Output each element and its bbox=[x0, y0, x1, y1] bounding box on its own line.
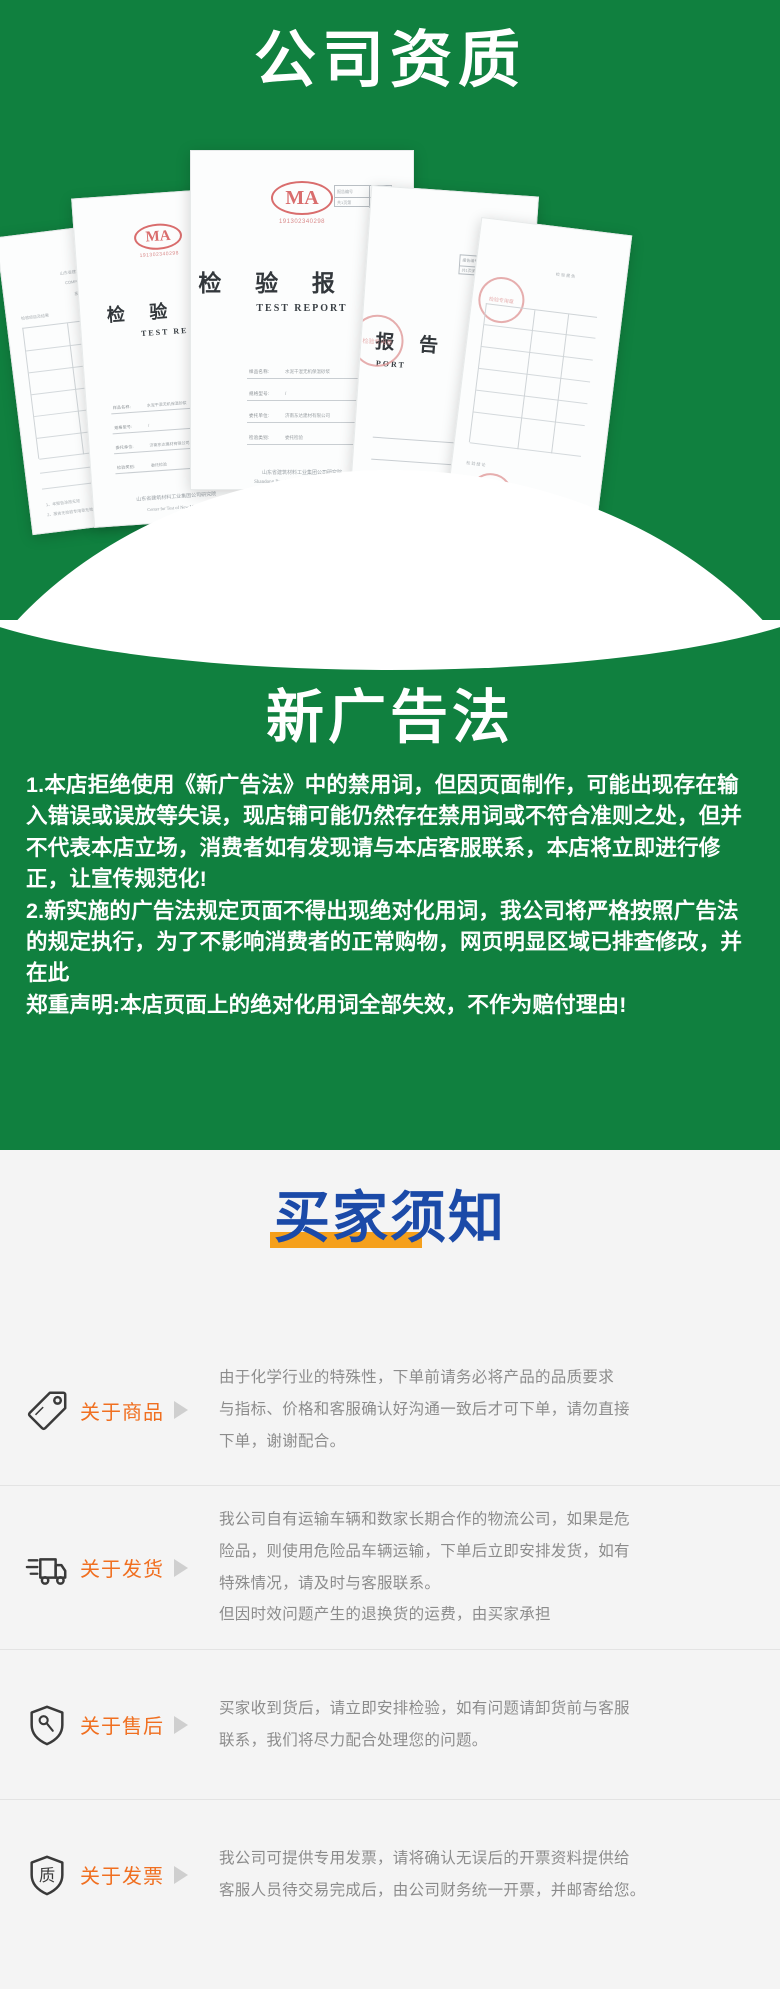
title-text-highlight: 买家 bbox=[274, 1186, 390, 1249]
ad-law-paragraph-1: 1.本店拒绝使用《新广告法》中的禁用词，但因页面制作，可能出现存在输入错误或误放… bbox=[26, 770, 756, 896]
notice-text-line: 我公司自有运输车辆和数家长期合作的物流公司，如果是危 bbox=[219, 1504, 762, 1536]
notice-text-line: 险品，则使用危险品车辆运输，下单后立即安排发货，如有 bbox=[219, 1536, 762, 1568]
notice-row-product[interactable]: 关于商品 由于化学行业的特殊性，下单前请务必将产品的品质要求 与指标、价格和客服… bbox=[0, 1335, 780, 1485]
notice-row-shipping[interactable]: 关于发货 我公司自有运输车辆和数家长期合作的物流公司，如果是危 险品，则使用危险… bbox=[0, 1485, 780, 1649]
notice-text-line: 客服人员待交易完成后，由公司财务统一开票，并邮寄给您。 bbox=[219, 1875, 762, 1907]
price-tag-icon bbox=[24, 1387, 70, 1433]
shield-quality-icon: 质 bbox=[24, 1852, 70, 1898]
buyer-notice-title-wrap: 买家须知 bbox=[0, 1190, 780, 1300]
notice-row-shipping-text: 我公司自有运输车辆和数家长期合作的物流公司，如果是危 险品，则使用危险品车辆运输… bbox=[219, 1504, 762, 1631]
chevron-right-icon bbox=[174, 1716, 188, 1734]
notice-row-list: 关于商品 由于化学行业的特殊性，下单前请务必将产品的品质要求 与指标、价格和客服… bbox=[0, 1335, 780, 1949]
ad-law-paragraph-2: 2.新实施的广告法规定页面不得出现绝对化用词，我公司将严格按照广告法的规定执行，… bbox=[26, 896, 756, 990]
notice-row-shipping-left: 关于发货 bbox=[24, 1545, 219, 1591]
chevron-right-icon bbox=[174, 1559, 188, 1577]
notice-row-product-left: 关于商品 bbox=[24, 1387, 219, 1433]
notice-row-product-text: 由于化学行业的特殊性，下单前请务必将产品的品质要求 与指标、价格和客服确认好沟通… bbox=[219, 1362, 762, 1457]
chevron-right-icon bbox=[174, 1866, 188, 1884]
company-qualification-section: 公司资质 山东省建筑材料 COMPANY 报告 检验项目及结果 1、本报告涂改无… bbox=[0, 0, 780, 620]
chevron-right-icon bbox=[174, 1401, 188, 1419]
buyer-notice-section: 买家须知 关于商品 由于化学行业的特殊性，下单前请务必将产品的品质要求 与指标、… bbox=[0, 1150, 780, 1989]
shield-wrench-icon bbox=[24, 1702, 70, 1748]
notice-row-invoice-left: 质 关于发票 bbox=[24, 1852, 219, 1898]
notice-text-line: 与指标、价格和客服确认好沟通一致后才可下单，请勿直接 bbox=[219, 1394, 762, 1426]
section-curve-top bbox=[0, 620, 780, 670]
notice-row-invoice[interactable]: 质 关于发票 我公司可提供专用发票，请将确认无误后的开票资料提供给 客服人员待交… bbox=[0, 1799, 780, 1949]
ad-law-body: 1.本店拒绝使用《新广告法》中的禁用词，但因页面制作，可能出现存在输入错误或误放… bbox=[26, 770, 756, 1021]
title-text-rest: 须知 bbox=[390, 1186, 506, 1249]
notice-text-line: 但因时效问题产生的退换货的运费，由买家承担 bbox=[219, 1599, 762, 1631]
ad-law-paragraph-3: 郑重声明:本店页面上的绝对化用词全部失效，不作为赔付理由! bbox=[26, 990, 756, 1021]
notice-text-line: 下单，谢谢配合。 bbox=[219, 1426, 762, 1458]
notice-row-aftersales-left: 关于售后 bbox=[24, 1702, 219, 1748]
notice-text-line: 联系，我们将尽力配合处理您的问题。 bbox=[219, 1725, 762, 1757]
notice-text-line: 我公司可提供专用发票，请将确认无误后的开票资料提供给 bbox=[219, 1843, 762, 1875]
notice-row-invoice-label: 关于发票 bbox=[80, 1860, 164, 1889]
notice-row-aftersales-text: 买家收到货后，请立即安排检验，如有问题请卸货前与客服 联系，我们将尽力配合处理您… bbox=[219, 1693, 762, 1757]
section-title-ad-law: 新广告法 bbox=[0, 670, 780, 754]
notice-text-line: 买家收到货后，请立即安排检验，如有问题请卸货前与客服 bbox=[219, 1693, 762, 1725]
notice-text-line: 特殊情况，请及时与客服联系。 bbox=[219, 1568, 762, 1600]
page-title-qualification: 公司资质 bbox=[0, 28, 780, 93]
notice-row-shipping-label: 关于发货 bbox=[80, 1553, 164, 1582]
notice-row-aftersales-label: 关于售后 bbox=[80, 1710, 164, 1739]
advertising-law-section: 新广告法 1.本店拒绝使用《新广告法》中的禁用词，但因页面制作，可能出现存在输入… bbox=[0, 620, 780, 1150]
notice-row-product-label: 关于商品 bbox=[80, 1396, 164, 1425]
delivery-truck-icon bbox=[24, 1545, 70, 1591]
notice-row-aftersales[interactable]: 关于售后 买家收到货后，请立即安排检验，如有问题请卸货前与客服 联系，我们将尽力… bbox=[0, 1649, 780, 1799]
notice-row-invoice-text: 我公司可提供专用发票，请将确认无误后的开票资料提供给 客服人员待交易完成后，由公… bbox=[219, 1843, 762, 1907]
certificate-fan: 山东省建筑材料 COMPANY 报告 检验项目及结果 1、本报告涂改无效 2、报… bbox=[0, 120, 780, 520]
page-title-buyer-notice: 买家须知 bbox=[272, 1190, 508, 1246]
svg-text:质: 质 bbox=[39, 1865, 55, 1884]
notice-text-line: 由于化学行业的特殊性，下单前请务必将产品的品质要求 bbox=[219, 1362, 762, 1394]
